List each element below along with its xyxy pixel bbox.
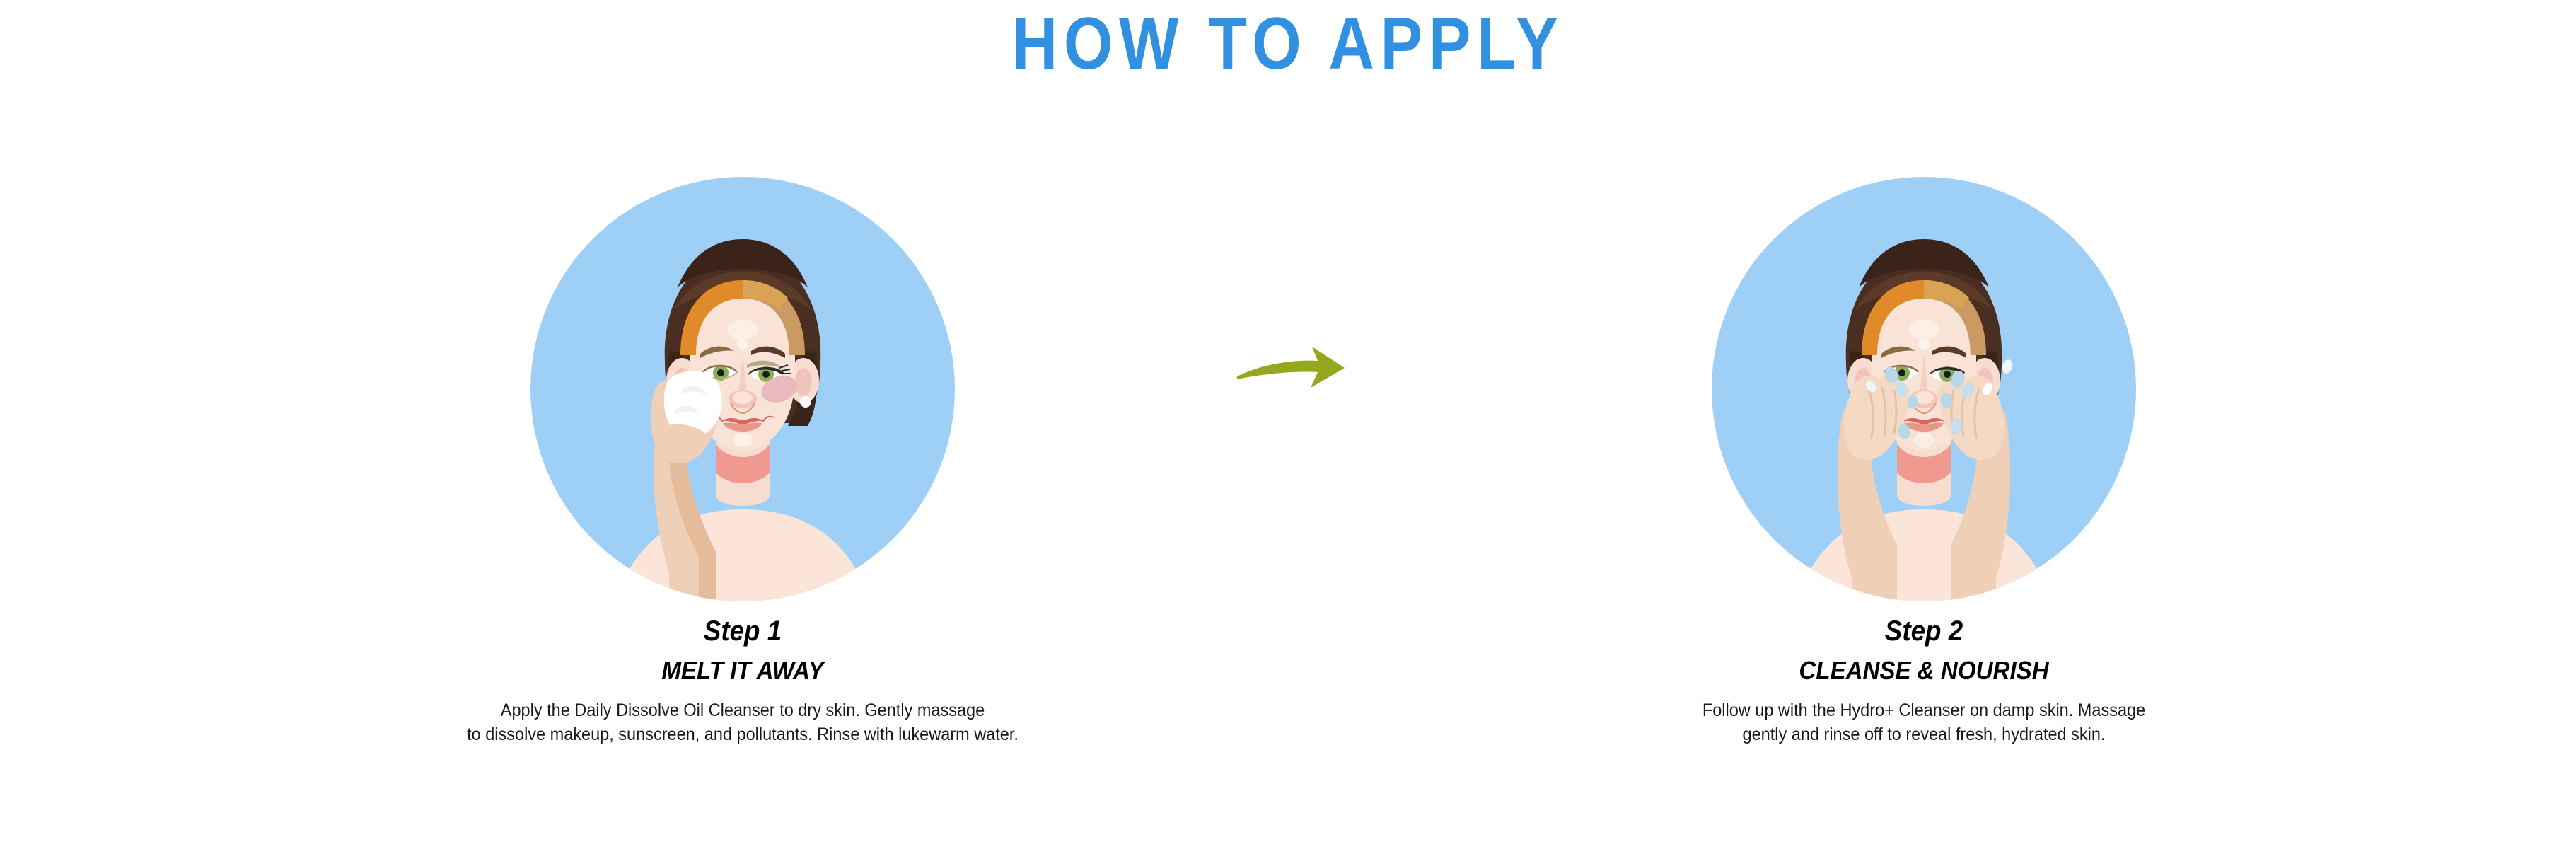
- step-card-2: Step 2 CLEANSE & NOURISH Follow up with …: [1358, 177, 2490, 747]
- step-1-headline: MELT IT AWAY: [222, 658, 1263, 683]
- step-card-1: Step 1 MELT IT AWAY Apply the Daily Diss…: [177, 177, 1309, 747]
- woman-washing-face-icon: [1712, 177, 2136, 601]
- step-1-description-line-1: Apply the Daily Dissolve Oil Cleanser to…: [211, 699, 1275, 723]
- arrow-connector: [1234, 333, 1347, 417]
- step-2-headline: CLEANSE & NOURISH: [1403, 658, 2444, 683]
- step-2-description-line-2: gently and rinse off to reveal fresh, hy…: [1392, 723, 2456, 747]
- step-2-description-line-1: Follow up with the Hydro+ Cleanser on da…: [1392, 699, 2456, 723]
- arrow-right-icon: [1234, 333, 1347, 417]
- step-1-illustration: [530, 177, 955, 601]
- steps-container: Step 1 MELT IT AWAY Apply the Daily Diss…: [0, 0, 2576, 849]
- step-1-description: Apply the Daily Dissolve Oil Cleanser to…: [211, 699, 1275, 747]
- step-2-description: Follow up with the Hydro+ Cleanser on da…: [1392, 699, 2456, 747]
- step-1-description-line-2: to dissolve makeup, sunscreen, and pollu…: [211, 723, 1275, 747]
- step-2-label: Step 2: [1403, 617, 2444, 645]
- step-2-illustration: [1712, 177, 2136, 601]
- woman-applying-cotton-pad-icon: [530, 177, 955, 601]
- step-1-label: Step 1: [222, 617, 1263, 645]
